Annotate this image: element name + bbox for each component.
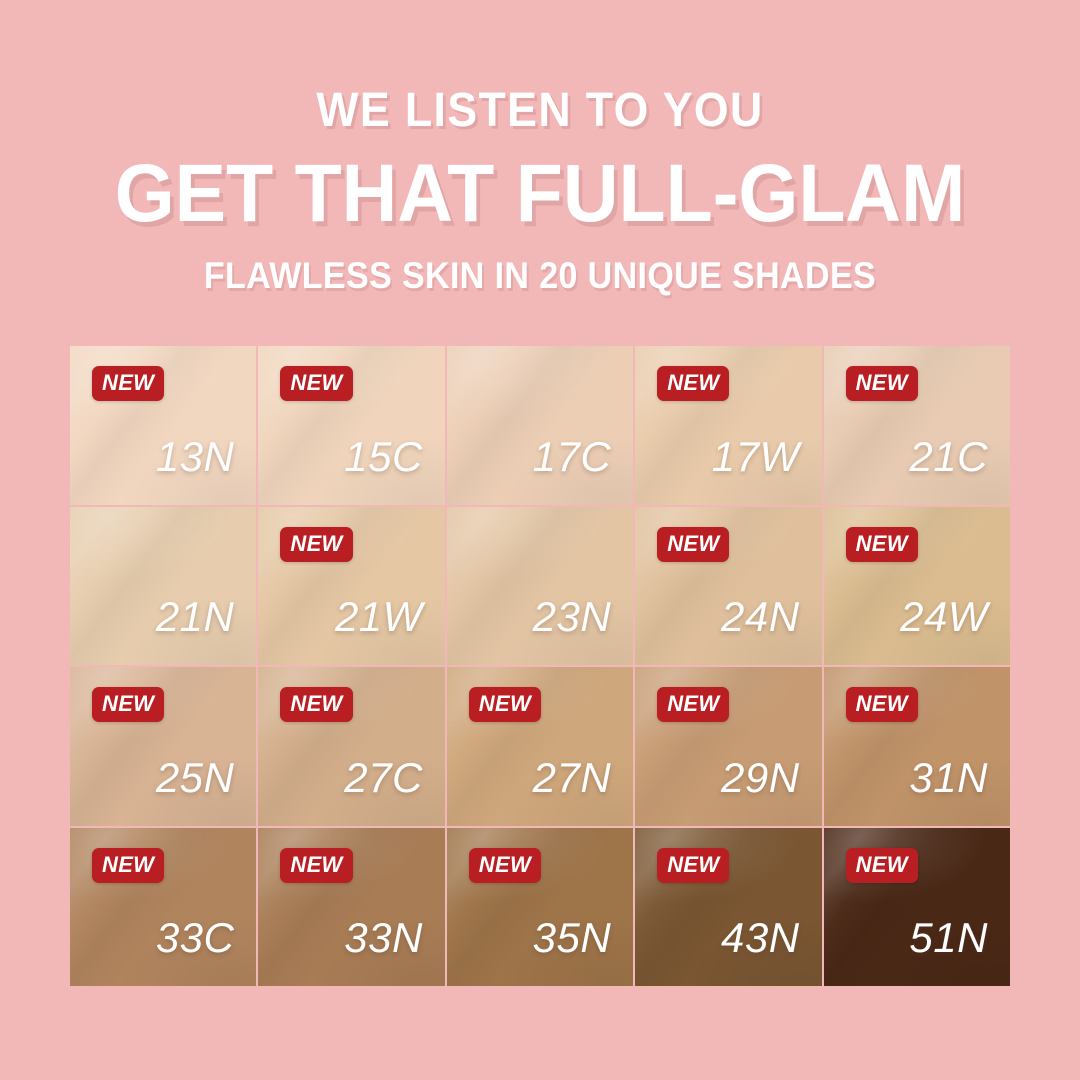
new-badge: NEW [280,687,352,722]
swatch-sheen-overlay [70,507,256,666]
shade-swatch-grid: NEW13NNEW15C17CNEW17WNEW21C21NNEW21W23NN… [70,346,1010,986]
shade-code-label: 27N [533,756,612,800]
new-badge: NEW [657,848,729,883]
swatch-sheen-overlay [447,507,633,666]
shade-code-label: 29N [721,756,800,800]
new-badge: NEW [846,527,918,562]
swatch-highlight-overlay [70,507,256,666]
shade-swatch[interactable]: NEW51N [824,828,1010,987]
shade-swatch[interactable]: NEW21C [824,346,1010,505]
shade-code-label: 21W [335,595,423,639]
shade-code-label: 17C [533,435,612,479]
shade-swatch[interactable]: NEW15C [258,346,444,505]
new-badge: NEW [469,848,541,883]
shade-swatch[interactable]: NEW43N [635,828,821,987]
shade-swatch[interactable]: NEW24N [635,507,821,666]
new-badge: NEW [92,366,164,401]
shade-swatch[interactable]: NEW35N [447,828,633,987]
shade-swatch[interactable]: NEW27N [447,667,633,826]
poster-heading-block: WE LISTEN TO YOU GET THAT FULL-GLAM FLAW… [0,0,1080,296]
shade-code-label: 51N [909,916,988,960]
new-badge: NEW [846,366,918,401]
eyebrow-text: WE LISTEN TO YOU [38,86,1042,136]
shade-code-label: 21C [909,435,988,479]
new-badge: NEW [657,527,729,562]
shade-swatch[interactable]: NEW27C [258,667,444,826]
shade-code-label: 23N [533,595,612,639]
swatch-sheen-overlay [447,346,633,505]
page-title: GET THAT FULL-GLAM [32,150,1047,238]
swatch-highlight-overlay [447,507,633,666]
shade-code-label: 25N [156,756,235,800]
new-badge: NEW [280,366,352,401]
swatch-highlight-overlay [447,346,633,505]
new-badge: NEW [657,366,729,401]
shade-code-label: 27C [344,756,423,800]
shade-swatch[interactable]: NEW25N [70,667,256,826]
new-badge: NEW [657,687,729,722]
shade-swatch[interactable]: NEW13N [70,346,256,505]
shade-code-label: 15C [344,435,423,479]
shade-code-label: 21N [156,595,235,639]
shade-code-label: 24N [721,595,800,639]
new-badge: NEW [280,527,352,562]
shade-swatch[interactable]: NEW33N [258,828,444,987]
shade-code-label: 35N [533,916,612,960]
shade-swatch[interactable]: NEW17W [635,346,821,505]
shade-code-label: 17W [712,435,800,479]
shade-code-label: 33C [156,916,235,960]
shade-swatch[interactable]: 17C [447,346,633,505]
new-badge: NEW [846,848,918,883]
shade-swatch[interactable]: NEW24W [824,507,1010,666]
shade-swatch[interactable]: NEW29N [635,667,821,826]
shade-range-poster: WE LISTEN TO YOU GET THAT FULL-GLAM FLAW… [0,0,1080,1080]
new-badge: NEW [92,848,164,883]
shade-swatch[interactable]: NEW33C [70,828,256,987]
shade-code-label: 13N [156,435,235,479]
shade-code-label: 31N [909,756,988,800]
shade-swatch[interactable]: 23N [447,507,633,666]
shade-swatch[interactable]: 21N [70,507,256,666]
new-badge: NEW [280,848,352,883]
shade-code-label: 43N [721,916,800,960]
new-badge: NEW [469,687,541,722]
new-badge: NEW [92,687,164,722]
subtitle-text: FLAWLESS SKIN IN 20 UNIQUE SHADES [43,256,1037,296]
shade-code-label: 33N [344,916,423,960]
shade-code-label: 24W [900,595,988,639]
shade-swatch[interactable]: NEW31N [824,667,1010,826]
new-badge: NEW [846,687,918,722]
shade-swatch[interactable]: NEW21W [258,507,444,666]
